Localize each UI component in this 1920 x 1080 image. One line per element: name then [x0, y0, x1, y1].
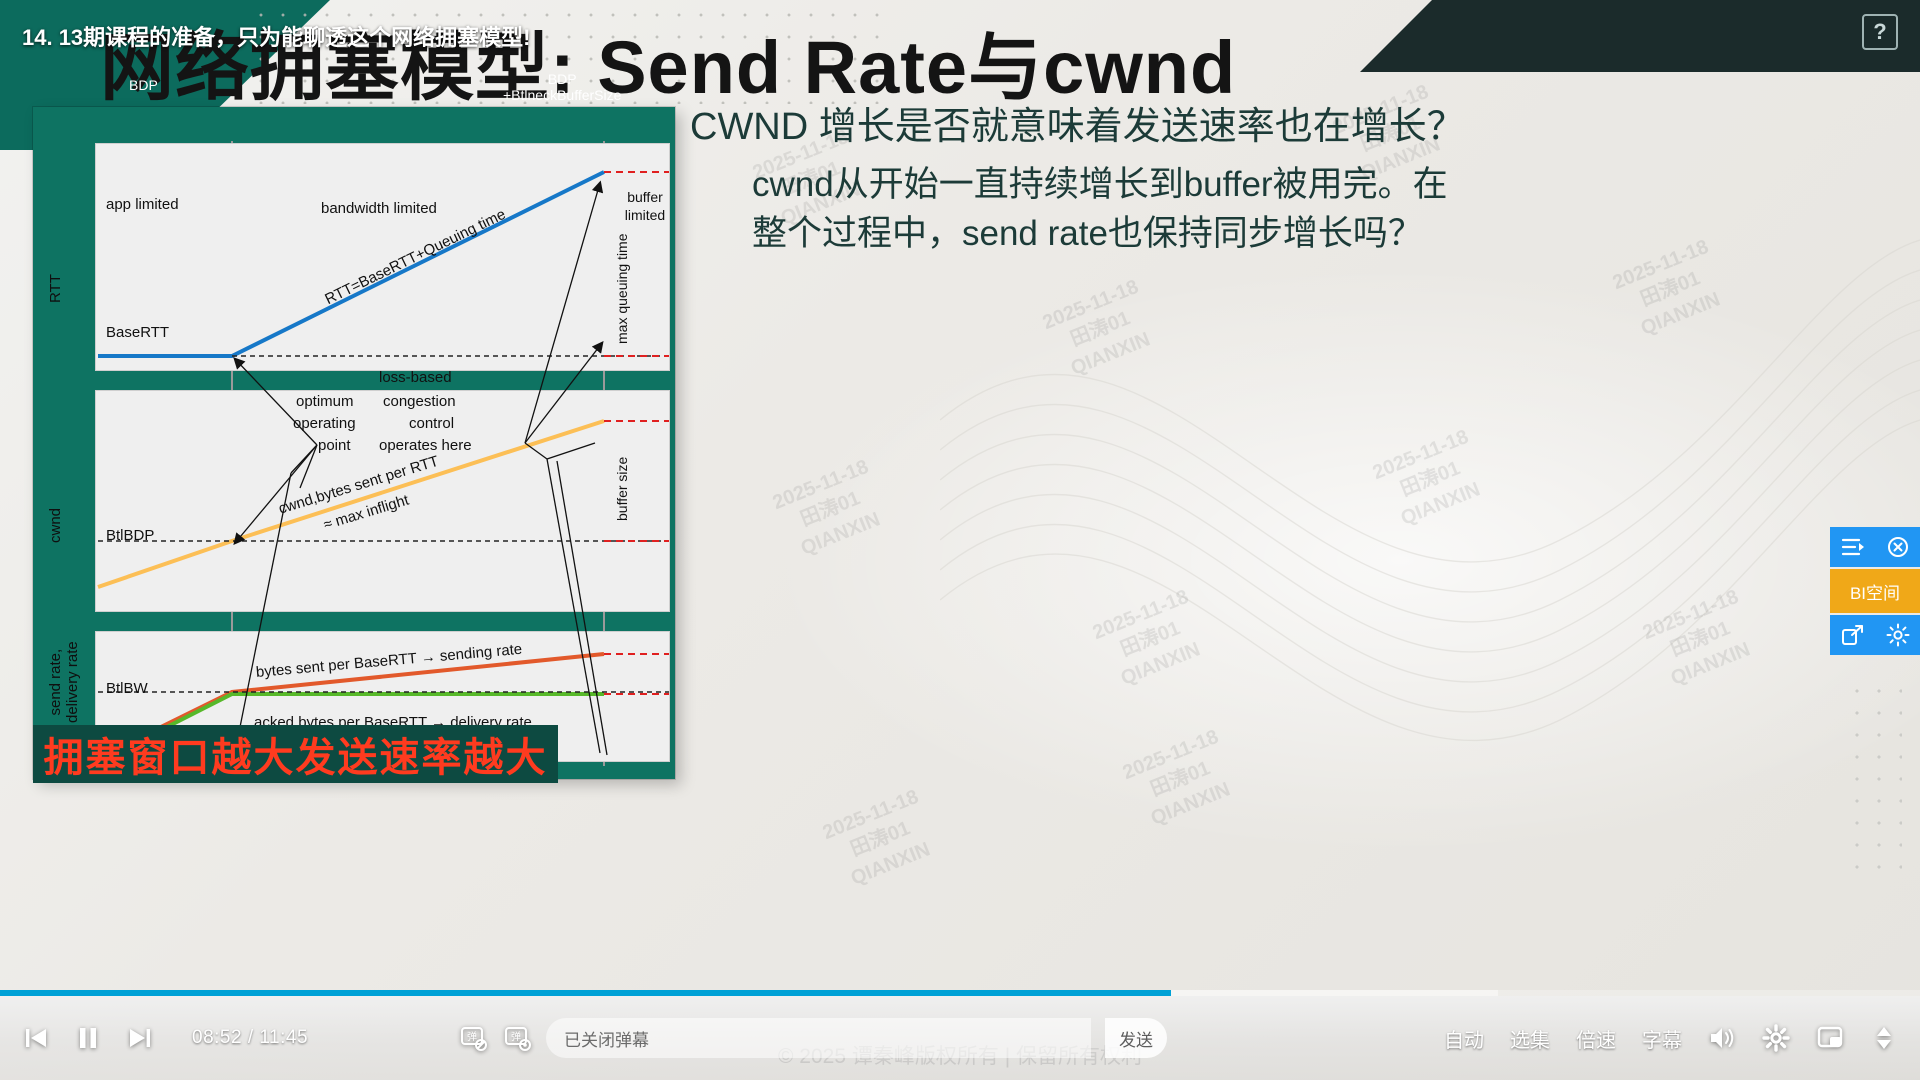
- bi-space-label: BI空间: [1850, 579, 1900, 604]
- external-link-icon[interactable]: [1841, 623, 1865, 647]
- chart-annotation-max-queuing-time: max queuing time: [614, 233, 630, 344]
- chart-panel-rtt-svg: [96, 144, 669, 370]
- time-separator: /: [248, 1027, 254, 1048]
- dot-grid-right: [1846, 680, 1902, 880]
- danmaku-off-icon[interactable]: 弹: [458, 1024, 488, 1052]
- slide-caption-band: 拥塞窗口越大发送速率越大: [33, 725, 558, 783]
- settings-gear-icon[interactable]: [1762, 1024, 1790, 1052]
- player-control-bar: 08:52 / 11:45 弹 弹 已关闭弹幕 发送 自动 选集: [0, 996, 1920, 1080]
- chart-annotation-control: control: [409, 415, 454, 432]
- episodes-button[interactable]: 选集: [1510, 1024, 1550, 1053]
- slide-caption-text: 拥塞窗口越大发送速率越大: [44, 725, 548, 783]
- chart-marker-bdp: BDP: [129, 77, 158, 94]
- chart-annotation-congestion: congestion: [383, 393, 456, 410]
- close-icon[interactable]: [1887, 536, 1909, 558]
- pause-button[interactable]: [74, 1024, 102, 1052]
- side-widgets: BI空间: [1830, 527, 1920, 655]
- danmaku-input[interactable]: 已关闭弹幕: [546, 1018, 1091, 1058]
- gear-icon[interactable]: [1886, 623, 1910, 647]
- next-button[interactable]: [126, 1024, 154, 1052]
- danmaku-placeholder: 已关闭弹幕: [564, 1026, 649, 1051]
- slide-body-line-2: 整个过程中，send rate也保持同步增长吗？: [690, 211, 1810, 258]
- time-display: 08:52 / 11:45: [192, 1027, 308, 1049]
- fullscreen-icon[interactable]: [1870, 1025, 1898, 1051]
- chart-ylabel-cwnd: cwnd: [47, 508, 64, 543]
- chart-annotation-buffer-size: buffer size: [614, 457, 630, 521]
- chart-ylabel-rtt: RTT: [47, 274, 64, 303]
- chart-panel-rtt: app limited bandwidth limited buffer lim…: [95, 143, 670, 371]
- chart-annotation-operating: operating: [293, 415, 356, 432]
- chart-baseline-label-btlbw: BtlBW: [106, 680, 148, 697]
- slide-question: CWND 增长是否就意味着发送速率也在增长？: [690, 104, 1810, 150]
- chart-annotation-optimum: optimum: [296, 393, 354, 410]
- chart-annotation-operates-here: operates here: [379, 437, 472, 454]
- current-time: 08:52: [192, 1027, 242, 1048]
- picture-in-picture-icon[interactable]: [1816, 1025, 1844, 1051]
- chart-annotation-loss-based: loss-based: [379, 369, 452, 386]
- speed-button[interactable]: 倍速: [1576, 1024, 1616, 1053]
- widget-playlist-close[interactable]: [1830, 527, 1920, 567]
- widget-bi-space[interactable]: BI空间: [1830, 569, 1920, 613]
- video-title: 14. 13期课程的准备，只为能聊透这个网络拥塞模型!: [22, 20, 531, 52]
- playlist-icon[interactable]: [1841, 536, 1865, 558]
- subtitles-button[interactable]: 字幕: [1642, 1024, 1682, 1053]
- volume-icon[interactable]: [1708, 1025, 1736, 1051]
- slide-text-block: CWND 增长是否就意味着发送速率也在增长？ cwnd从开始一直持续增长到buf…: [690, 104, 1810, 258]
- chart-annotation-point: point: [318, 437, 351, 454]
- svg-text:弹: 弹: [467, 1030, 477, 1043]
- chart-marker-bdp-buffer: BDP +BtlneckBufferSize: [503, 71, 621, 103]
- svg-text:弹: 弹: [511, 1030, 521, 1043]
- danmaku-settings-icon[interactable]: 弹: [502, 1024, 532, 1052]
- congestion-model-chart: BDP BDP +BtlneckBufferSize app limited b…: [33, 107, 675, 779]
- chart-panel-cwnd: BtlBDP loss-based optimum operating poin…: [95, 390, 670, 612]
- top-right-band: [1360, 0, 1920, 72]
- chart-ylabel-send-rate: send rate, delivery rate: [47, 641, 82, 723]
- duration: 11:45: [259, 1027, 308, 1048]
- auto-quality-button[interactable]: 自动: [1444, 1024, 1484, 1053]
- previous-button[interactable]: [22, 1024, 50, 1052]
- send-button[interactable]: 发送: [1105, 1018, 1167, 1058]
- help-icon[interactable]: ?: [1862, 14, 1898, 50]
- widget-popup-settings[interactable]: [1830, 615, 1920, 655]
- chart-baseline-label-btlbdp: BtlBDP: [106, 527, 154, 544]
- slide-body-line-1: cwnd从开始一直持续增长到buffer被用完。在: [690, 162, 1810, 209]
